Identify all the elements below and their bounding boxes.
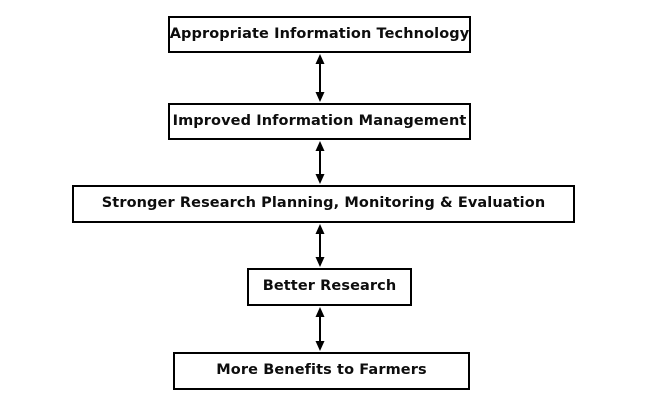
flowchart-diagram: Appropriate Information Technology Impro… [0, 0, 659, 404]
double-arrow-tech-to-management-icon [306, 53, 334, 103]
double-arrow-planning-to-research-icon [306, 223, 334, 268]
flow-box-appropriate-information-technology[interactable]: Appropriate Information Technology [168, 16, 471, 53]
flow-box-label: Stronger Research Planning, Monitoring &… [102, 196, 546, 212]
flow-box-more-benefits-to-farmers[interactable]: More Benefits to Farmers [173, 352, 470, 390]
flow-box-stronger-research-planning-monitoring-evaluation[interactable]: Stronger Research Planning, Monitoring &… [72, 185, 575, 223]
double-arrow-research-to-benefits-icon [306, 306, 334, 352]
double-arrow-management-to-planning-icon [306, 140, 334, 185]
flow-box-better-research[interactable]: Better Research [247, 268, 412, 306]
flow-box-improved-information-management[interactable]: Improved Information Management [168, 103, 471, 140]
flow-box-label: More Benefits to Farmers [216, 363, 426, 379]
flow-box-label: Appropriate Information Technology [170, 27, 470, 43]
flow-box-label: Improved Information Management [173, 114, 467, 130]
flow-box-label: Better Research [263, 279, 397, 295]
